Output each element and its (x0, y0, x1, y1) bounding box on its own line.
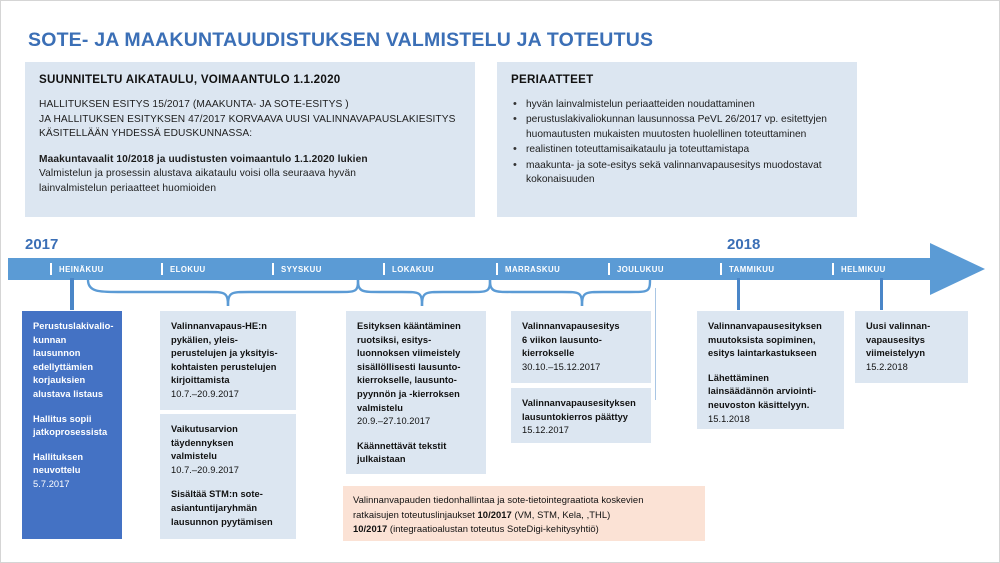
peach-line-3-a: 10/2017 (353, 523, 387, 534)
panel-schedule-heading: SUUNNITELTU AIKATAULU, VOIMAANTULO 1.1.2… (39, 73, 461, 86)
box-tiedonhallinta-note[interactable]: Valinnanvapauden tiedonhallintaa ja sote… (343, 486, 705, 541)
panel-planned-schedule: SUUNNITELTU AIKATAULU, VOIMAANTULO 1.1.2… (25, 62, 475, 217)
timeline-month-label: HELMIKUU (841, 265, 886, 274)
timeline-month-label: ELOKUU (170, 265, 206, 274)
spacer (708, 361, 834, 372)
box2a-text: Valinnanvapaus-HE:n pykälien, yleis- per… (171, 320, 286, 388)
timeline-year-2017: 2017 (25, 236, 58, 253)
box5-text-2: Lähettäminen lainsäädännön arviointi- ne… (708, 372, 834, 413)
box-lausuntokierros-start[interactable]: Valinnanvapausesitys 6 viikon lausunto- … (511, 311, 651, 383)
list-item: realistinen toteuttamisaikataulu ja tote… (511, 143, 843, 157)
peach-line-2-a: ratkaisujen toteutuslinjaukset (353, 509, 478, 520)
box4b-date: 15.12.2017 (522, 424, 641, 438)
panel-schedule-bold-line: Maakuntavaalit 10/2018 ja uudistusten vo… (39, 153, 461, 168)
box5-date: 15.1.2018 (708, 413, 834, 427)
box2b-date: 10.7.–20.9.2017 (171, 464, 286, 478)
list-item: perustuslakivaliokunnan lausunnossa PeVL… (511, 113, 843, 142)
panel-schedule-tail-1: Valmistelun ja prosessin alustava aikata… (39, 167, 461, 182)
list-item: hyvän lainvalmistelun periaatteiden noud… (511, 98, 843, 112)
box1-paragraph-1: Perustuslakivalio- kunnan lausunnon edel… (33, 320, 112, 402)
panel-principles: PERIAATTEET hyvän lainvalmistelun periaa… (497, 62, 857, 217)
connector-box5 (737, 278, 740, 310)
page-title: SOTE- JA MAAKUNTAUUDISTUKSEN VALMISTELU … (28, 29, 653, 52)
box-perustuslakivaliokunta[interactable]: Perustuslakivalio- kunnan lausunnon edel… (22, 311, 122, 539)
principles-list: hyvän lainvalmistelun periaatteiden noud… (511, 98, 843, 187)
timeline-month-label: TAMMIKUU (729, 265, 774, 274)
panel-schedule-line-2: JA HALLITUKSEN ESITYKSEN 47/2017 KORVAAV… (39, 113, 461, 128)
timeline-month-lokakuu[interactable]: LOKAKUU (383, 258, 434, 280)
box1-date: 5.7.2017 (33, 478, 112, 492)
connector-box1 (70, 278, 74, 310)
timeline-year-2018: 2018 (727, 236, 760, 253)
timeline-month-elokuu[interactable]: ELOKUU (161, 258, 206, 280)
panel-schedule-line-1: HALLITUKSEN ESITYS 15/2017 (MAAKUNTA- JA… (39, 98, 461, 113)
box-esityksen-kaantaminen[interactable]: Esityksen kääntäminen ruotsiksi, esitys-… (346, 311, 486, 474)
tick-icon (832, 263, 834, 275)
tick-icon (272, 263, 274, 275)
peach-line-1: Valinnanvapauden tiedonhallintaa ja sote… (353, 493, 695, 508)
box1-paragraph-3: Hallituksen neuvottelu (33, 451, 112, 478)
box3-text: Esityksen kääntäminen ruotsiksi, esitys-… (357, 320, 476, 415)
box2a-date: 10.7.–20.9.2017 (171, 388, 286, 402)
timeline-bar (8, 258, 943, 280)
tick-icon (50, 263, 52, 275)
timeline-month-joulukuu[interactable]: JOULUKUU (608, 258, 664, 280)
timeline-connectors (0, 278, 1000, 318)
spacer (33, 440, 112, 451)
box-valinnanvapaus-he[interactable]: Valinnanvapaus-HE:n pykälien, yleis- per… (160, 311, 296, 410)
spacer (39, 142, 461, 153)
box4a-text: Valinnanvapausesitys 6 viikon lausunto- … (522, 320, 641, 361)
box5-text: Valinnanvapausesityksen muutoksista sopi… (708, 320, 834, 361)
timeline-month-syyskuu[interactable]: SYYSKUU (272, 258, 322, 280)
box4a-date: 30.10.–15.12.2017 (522, 361, 641, 375)
box2b-text-2: Sisältää STM:n sote- asiantuntijaryhmän … (171, 488, 286, 529)
box-vaikutusarvio[interactable]: Vaikutusarvion täydennyksen valmistelu 1… (160, 414, 296, 539)
box2b-text: Vaikutusarvion täydennyksen valmistelu (171, 423, 286, 464)
tick-icon (496, 263, 498, 275)
timeline-month-heinakuu[interactable]: HEINÄKUU (50, 258, 104, 280)
box3-date: 20.9.–27.10.2017 (357, 415, 476, 429)
spacer (171, 477, 286, 488)
tick-icon (383, 263, 385, 275)
peach-line-2-c: (VM, STM, Kela, ,THL) (512, 509, 611, 520)
tick-icon (161, 263, 163, 275)
panel-schedule-line-3: KÄSITELLÄÄN YHDESSÄ EDUSKUNNASSA: (39, 127, 461, 142)
timeline-month-label: MARRASKUU (505, 265, 560, 274)
timeline-month-marraskuu[interactable]: MARRASKUU (496, 258, 560, 280)
peach-line-2: ratkaisujen toteutuslinjaukset 10/2017 (… (353, 508, 695, 523)
tick-icon (608, 263, 610, 275)
timeline-month-tammikuu[interactable]: TAMMIKUU (720, 258, 774, 280)
list-item: maakunta- ja sote-esitys sekä valinnanva… (511, 159, 843, 188)
connector-box6 (880, 278, 883, 310)
connector-box4b (655, 288, 656, 400)
peach-line-2-b: 10/2017 (478, 509, 512, 520)
box-uusi-valinnanvapausesitys[interactable]: Uusi valinnan- vapausesitys viimeistelyy… (855, 311, 968, 383)
box1-paragraph-2: Hallitus sopii jatkoprosessista (33, 413, 112, 440)
timeline-month-label: SYYSKUU (281, 265, 322, 274)
box6-date: 15.2.2018 (866, 361, 958, 375)
peach-line-3-b: (integraatioalustan toteutus SoteDigi-ke… (387, 523, 599, 534)
spacer (33, 402, 112, 413)
box6-text: Uusi valinnan- vapausesitys viimeistelyy… (866, 320, 958, 361)
panel-schedule-tail-2: lainvalmistelun periaatteet huomioiden (39, 182, 461, 197)
panel-principles-heading: PERIAATTEET (511, 73, 843, 86)
timeline-month-helmikuu[interactable]: HELMIKUU (832, 258, 886, 280)
box-lausuntokierros-end[interactable]: Valinnanvapausesityksen lausuntokierros … (511, 388, 651, 443)
timeline-month-label: LOKAKUU (392, 265, 434, 274)
box-muutoksista-sopiminen[interactable]: Valinnanvapausesityksen muutoksista sopi… (697, 311, 844, 429)
tick-icon (720, 263, 722, 275)
timeline-month-label: JOULUKUU (617, 265, 664, 274)
box4b-text: Valinnanvapausesityksen lausuntokierros … (522, 397, 641, 424)
peach-line-3: 10/2017 (integraatioalustan toteutus Sot… (353, 522, 695, 537)
timeline-month-label: HEINÄKUU (59, 265, 104, 274)
box3-text-2: Käännettävät tekstit julkaistaan (357, 440, 476, 467)
spacer (357, 429, 476, 440)
